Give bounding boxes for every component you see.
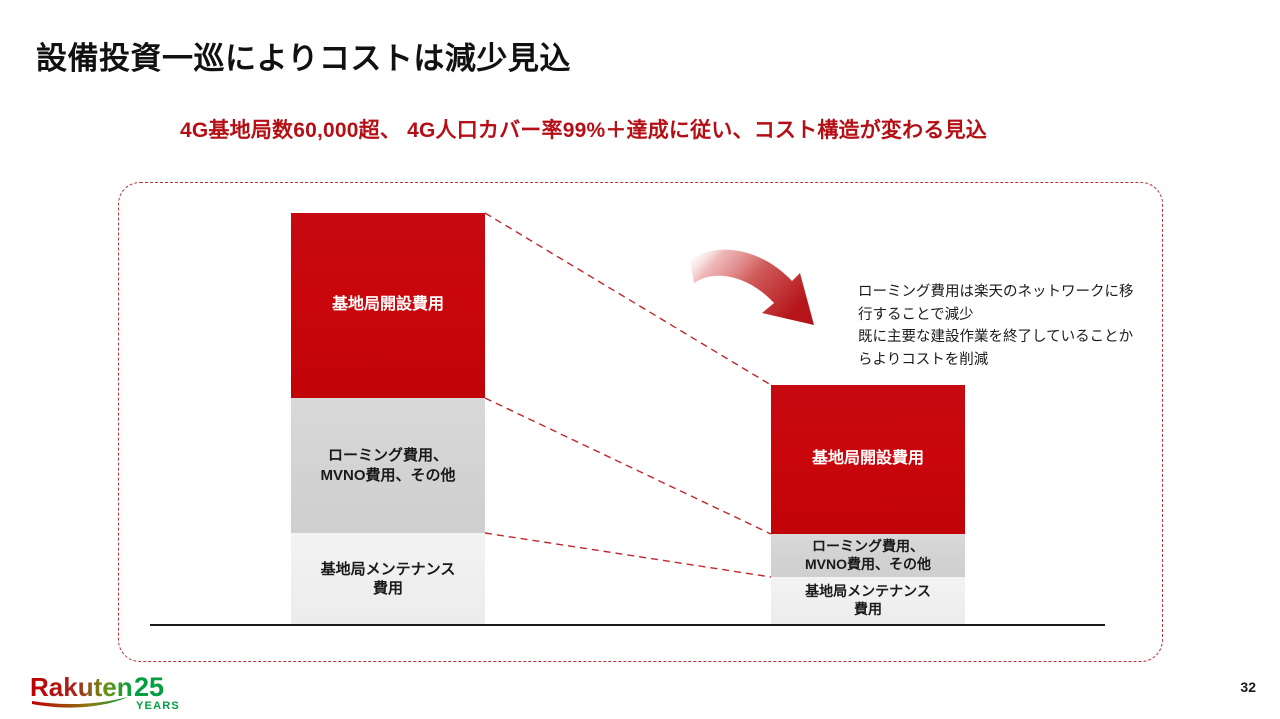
logo-brand-text: Rakuten [30,672,133,702]
annotation-text: ローミング費用は楽天のネットワークに移行することで減少 既に主要な建設作業を終了… [858,281,1136,371]
bar-current[interactable]: 基地局開設費用 ローミング費用、 MVNO費用、その他 基地局メンテナンス 費用 [291,213,485,625]
subtitle-text: 4G基地局数60,000超、 4G人口カバー率99%＋達成に従い、コスト構造が変… [180,114,987,144]
bar-future[interactable]: 基地局開設費用 ローミング費用、 MVNO費用、その他 基地局メンテナンス 費用 [771,385,965,625]
rakuten-25-years-logo: Rakuten 25 YEARS [30,672,200,714]
logo-years-label: YEARS [136,700,180,712]
bar-future-segment-base-station-deployment: 基地局開設費用 [771,385,965,534]
bar-current-segment-base-station-deployment: 基地局開設費用 [291,213,485,398]
content-panel [118,182,1163,662]
bar-future-segment-base-station-maintenance: 基地局メンテナンス 費用 [771,577,965,625]
logo-anniversary-number: 25 [134,672,164,702]
page-title: 設備投資一巡によりコストは減少見込 [36,33,571,78]
bar-future-segment-roaming-mvno-other: ローミング費用、 MVNO費用、その他 [771,534,965,577]
bar-current-segment-roaming-mvno-other: ローミング費用、 MVNO費用、その他 [291,398,485,533]
page-number: 32 [1240,679,1256,695]
bar-current-segment-base-station-maintenance: 基地局メンテナンス 費用 [291,533,485,625]
